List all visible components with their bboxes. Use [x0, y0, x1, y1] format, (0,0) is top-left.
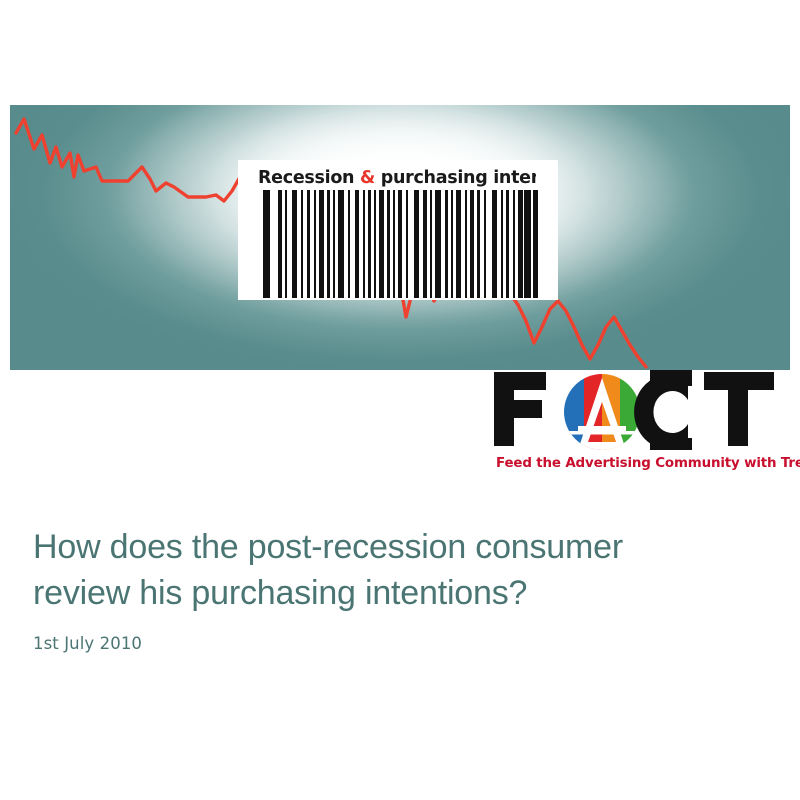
logo-letter-t-icon [704, 372, 774, 446]
barcode-bar [363, 190, 365, 298]
page-date: 1st July 2010 [33, 634, 773, 653]
barcode-bar [406, 190, 408, 298]
barcode-bar [451, 190, 453, 298]
barcode-bar [435, 190, 441, 298]
barcode-bar [374, 190, 376, 298]
fact-logo-letters [492, 368, 788, 450]
page-title-line-2: review his purchasing intentions? [33, 574, 527, 612]
barcode-bar [506, 190, 509, 298]
barcode-title-ampersand: & [360, 168, 375, 188]
fact-logo: Feed the Advertising Community with Tren… [492, 368, 788, 480]
barcode-bar [301, 190, 303, 298]
logo-letter-c-icon [634, 370, 692, 450]
barcode-bar [477, 190, 480, 298]
barcode-guard-left-bar [263, 190, 270, 298]
barcode-bar [307, 190, 310, 298]
barcode-bar [527, 190, 530, 298]
barcode-bar [348, 190, 350, 298]
barcode-bar [423, 190, 427, 298]
barcode-bar [533, 190, 535, 298]
barcode-bar [470, 190, 474, 298]
barcode-bar [465, 190, 467, 298]
barcode-bar [333, 190, 335, 298]
barcode-bar [327, 190, 330, 298]
barcode-bar [314, 190, 316, 298]
barcode-bars [256, 190, 538, 298]
barcode-bar [513, 190, 515, 298]
barcode-bar [355, 190, 359, 298]
barcode-graphic: Recession & purchasing intention [238, 160, 558, 300]
barcode-bar [484, 190, 486, 298]
barcode-bar [387, 190, 390, 298]
logo-letter-f-icon [494, 372, 546, 446]
barcode-bar [292, 190, 297, 298]
barcode-bar [414, 190, 419, 298]
barcode-title-text: Recession & purchasing intention [258, 165, 536, 191]
barcode-title-part-2: purchasing intention [375, 168, 536, 188]
barcode-bar [398, 190, 402, 298]
barcode-bar [368, 190, 371, 298]
barcode-bar [278, 190, 282, 298]
barcode-title-part-1: Recession [258, 168, 360, 188]
barcode-bar [445, 190, 448, 298]
barcode-bar [285, 190, 287, 298]
fact-logo-tagline: Feed the Advertising Community with Tren… [496, 456, 788, 471]
barcode-bar [338, 190, 344, 298]
barcode-bar [501, 190, 503, 298]
page-title: How does the post-recession consumer rev… [33, 524, 773, 616]
logo-letter-a-circle-icon [562, 372, 644, 450]
barcode-bar [492, 190, 497, 298]
barcode-bar [518, 190, 523, 298]
title-block: How does the post-recession consumer rev… [33, 524, 773, 653]
barcode-bar [379, 190, 384, 298]
barcode-bar [393, 190, 395, 298]
barcode-bar [319, 190, 324, 298]
page-title-line-1: How does the post-recession consumer [33, 528, 623, 566]
barcode-bar [430, 190, 432, 298]
barcode-bar [456, 190, 461, 298]
